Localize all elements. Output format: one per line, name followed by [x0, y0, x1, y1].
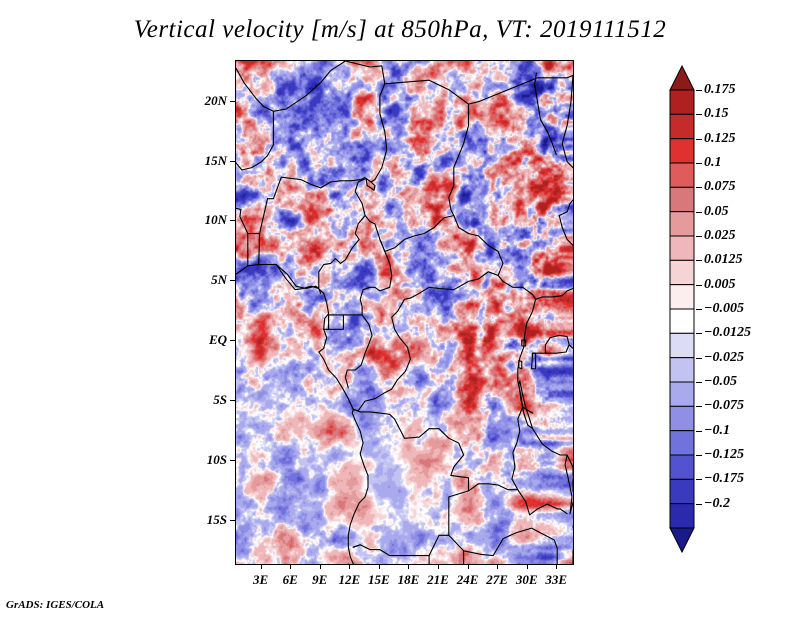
border-polyline	[449, 528, 557, 564]
longitude-tick	[379, 564, 380, 569]
colorbar-tick	[696, 285, 702, 286]
latitude-label: 20N	[183, 93, 227, 109]
colorbar-band	[670, 260, 694, 284]
longitude-tick	[468, 564, 469, 569]
colorbar-band	[670, 285, 694, 309]
border-polyline	[410, 272, 498, 298]
colorbar-label: −0.1	[704, 423, 730, 439]
colorbar-label: 0.025	[704, 228, 736, 244]
longitude-tick	[497, 564, 498, 569]
colorbar-tick	[696, 163, 702, 164]
colorbar-tick	[696, 187, 702, 188]
colorbar-band	[670, 139, 694, 163]
border-polyline	[519, 360, 522, 368]
border-polyline	[469, 484, 518, 491]
longitude-label: 33E	[536, 572, 576, 588]
colorbar-band	[670, 431, 694, 455]
longitude-tick	[556, 564, 557, 569]
colorbar-band	[670, 236, 694, 260]
country-borders-overlay	[236, 61, 573, 564]
colorbar-band	[670, 212, 694, 236]
colorbar-band	[670, 406, 694, 430]
colorbar-band	[670, 455, 694, 479]
border-polyline	[353, 410, 468, 556]
border-polyline	[559, 200, 573, 246]
border-polyline	[545, 335, 569, 353]
border-polyline	[565, 455, 573, 514]
colorbar-label: −0.025	[704, 350, 744, 366]
colorbar-tick	[696, 139, 702, 140]
border-polyline	[526, 502, 567, 515]
longitude-tick	[320, 564, 321, 569]
border-polyline	[536, 289, 573, 300]
colorbar-label: −0.2	[704, 496, 730, 512]
border-polyline	[385, 80, 469, 215]
border-polyline	[236, 111, 273, 170]
page-title: Vertical velocity [m/s] at 850hPa, VT: 2…	[0, 16, 800, 44]
colorbar-tick	[696, 114, 702, 115]
colorbar-label: 0.0125	[704, 252, 743, 268]
latitude-tick	[230, 280, 235, 281]
colorbar-band	[670, 479, 694, 503]
border-polyline	[355, 178, 366, 215]
border-polyline	[236, 265, 368, 564]
colorbar-band	[670, 163, 694, 187]
colorbar-label: −0.05	[704, 374, 737, 390]
border-polyline	[469, 75, 574, 104]
colorbar-band	[670, 358, 694, 382]
latitude-tick	[230, 460, 235, 461]
border-polyline	[236, 61, 345, 111]
colorbar-label: −0.125	[704, 447, 744, 463]
colorbar-tick	[696, 236, 702, 237]
colorbar-tick	[696, 479, 702, 480]
border-polyline	[562, 75, 573, 167]
border-polyline	[329, 315, 344, 329]
colorbar-tick	[696, 90, 702, 91]
latitude-label: 15N	[183, 153, 227, 169]
colorbar-label: 0.075	[704, 179, 736, 195]
border-polyline	[535, 73, 557, 154]
longitude-tick	[438, 564, 439, 569]
colorbar-tick	[696, 358, 702, 359]
colorbar-tick	[696, 406, 702, 407]
colorbar-tick	[696, 382, 702, 383]
longitude-tick	[290, 564, 291, 569]
border-polyline	[365, 216, 454, 252]
colorbar-tick	[696, 431, 702, 432]
colorbar-label: −0.0125	[704, 325, 751, 341]
attribution-footer: GrADS: IGES/COLA	[6, 599, 104, 611]
longitude-tick	[527, 564, 528, 569]
colorbar-tick	[696, 260, 702, 261]
colorbar-arrow-low	[670, 528, 694, 552]
border-polyline	[319, 216, 365, 289]
latitude-tick	[230, 220, 235, 221]
colorbar-label: 0.1	[704, 155, 722, 171]
colorbar-label: −0.075	[704, 398, 744, 414]
colorbar-band	[670, 90, 694, 114]
border-polyline	[532, 353, 536, 369]
colorbar-label: −0.005	[704, 301, 744, 317]
border-polyline	[353, 545, 360, 547]
colorbar-band	[670, 114, 694, 138]
border-polyline	[236, 208, 248, 265]
latitude-label: EQ	[183, 332, 227, 348]
colorbar-label: 0.15	[704, 106, 729, 122]
border-polyline	[533, 429, 568, 455]
longitude-tick	[408, 564, 409, 569]
border-polyline	[345, 61, 386, 182]
border-polyline	[324, 315, 362, 329]
border-polyline	[569, 345, 573, 349]
colorbar-label: 0.175	[704, 82, 736, 98]
colorbar-tick	[696, 504, 702, 505]
longitude-tick	[349, 564, 350, 569]
colorbar-tick	[696, 212, 702, 213]
latitude-tick	[230, 161, 235, 162]
latitude-tick	[230, 101, 235, 102]
colorbar-tick	[696, 309, 702, 310]
latitude-label: 10N	[183, 212, 227, 228]
latitude-label: 10S	[183, 452, 227, 468]
colorbar-tick	[696, 333, 702, 334]
longitude-tick	[261, 564, 262, 569]
colorbar-band	[670, 309, 694, 333]
colorbar-label: −0.175	[704, 471, 744, 487]
border-polyline	[454, 216, 536, 300]
border-polyline	[276, 265, 320, 294]
latitude-label: 5N	[183, 272, 227, 288]
colorbar-label: 0.005	[704, 277, 736, 293]
map-plot-area	[235, 60, 574, 565]
latitude-tick	[230, 400, 235, 401]
colorbar-legend: 0.1750.150.1250.10.0750.050.0250.01250.0…	[668, 62, 796, 556]
latitude-label: 5S	[183, 392, 227, 408]
latitude-label: 15S	[183, 512, 227, 528]
border-polyline	[259, 199, 268, 265]
colorbar-band	[670, 187, 694, 211]
colorbar-band	[670, 504, 694, 528]
border-polyline	[345, 315, 372, 388]
latitude-tick	[230, 340, 235, 341]
colorbar-band	[670, 382, 694, 406]
colorbar-label: 0.05	[704, 204, 729, 220]
colorbar-label: 0.125	[704, 131, 736, 147]
border-polyline	[268, 177, 366, 199]
colorbar-arrow-high	[670, 66, 694, 90]
border-polyline	[519, 381, 533, 429]
latitude-tick	[230, 520, 235, 521]
colorbar-tick	[696, 455, 702, 456]
colorbar-band	[670, 333, 694, 357]
